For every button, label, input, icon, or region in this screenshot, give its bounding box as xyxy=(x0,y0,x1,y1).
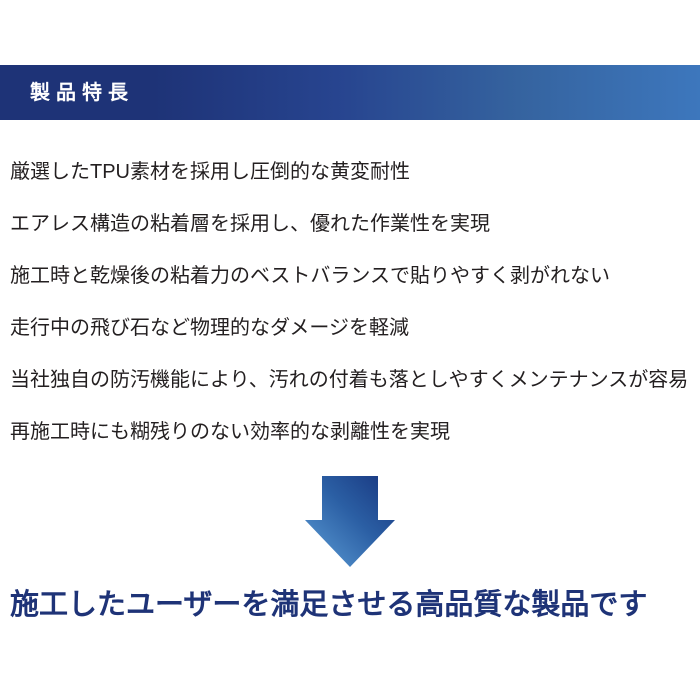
conclusion-headline: 施工したユーザーを満足させる高品質な製品です xyxy=(0,580,700,630)
feature-list: 厳選したTPU素材を採用し圧倒的な黄変耐性 エアレス構造の粘着層を採用し、優れた… xyxy=(0,146,700,458)
feature-list-item: エアレス構造の粘着層を採用し、優れた作業性を実現 xyxy=(0,198,700,250)
feature-list-item: 再施工時にも糊残りのない効率的な剥離性を実現 xyxy=(0,406,700,458)
feature-list-item: 厳選したTPU素材を採用し圧倒的な黄変耐性 xyxy=(0,146,700,198)
section-header-bar: 製品特長 xyxy=(0,65,700,120)
feature-list-item: 施工時と乾燥後の粘着力のベストバランスで貼りやすく剥がれない xyxy=(0,250,700,302)
arrow-down-icon xyxy=(303,474,397,569)
page-title: 製品特長 xyxy=(30,83,134,103)
feature-list-item: 走行中の飛び石など物理的なダメージを軽減 xyxy=(0,302,700,354)
feature-list-item: 当社独自の防汚機能により、汚れの付着も落としやすくメンテナンスが容易 xyxy=(0,354,700,406)
